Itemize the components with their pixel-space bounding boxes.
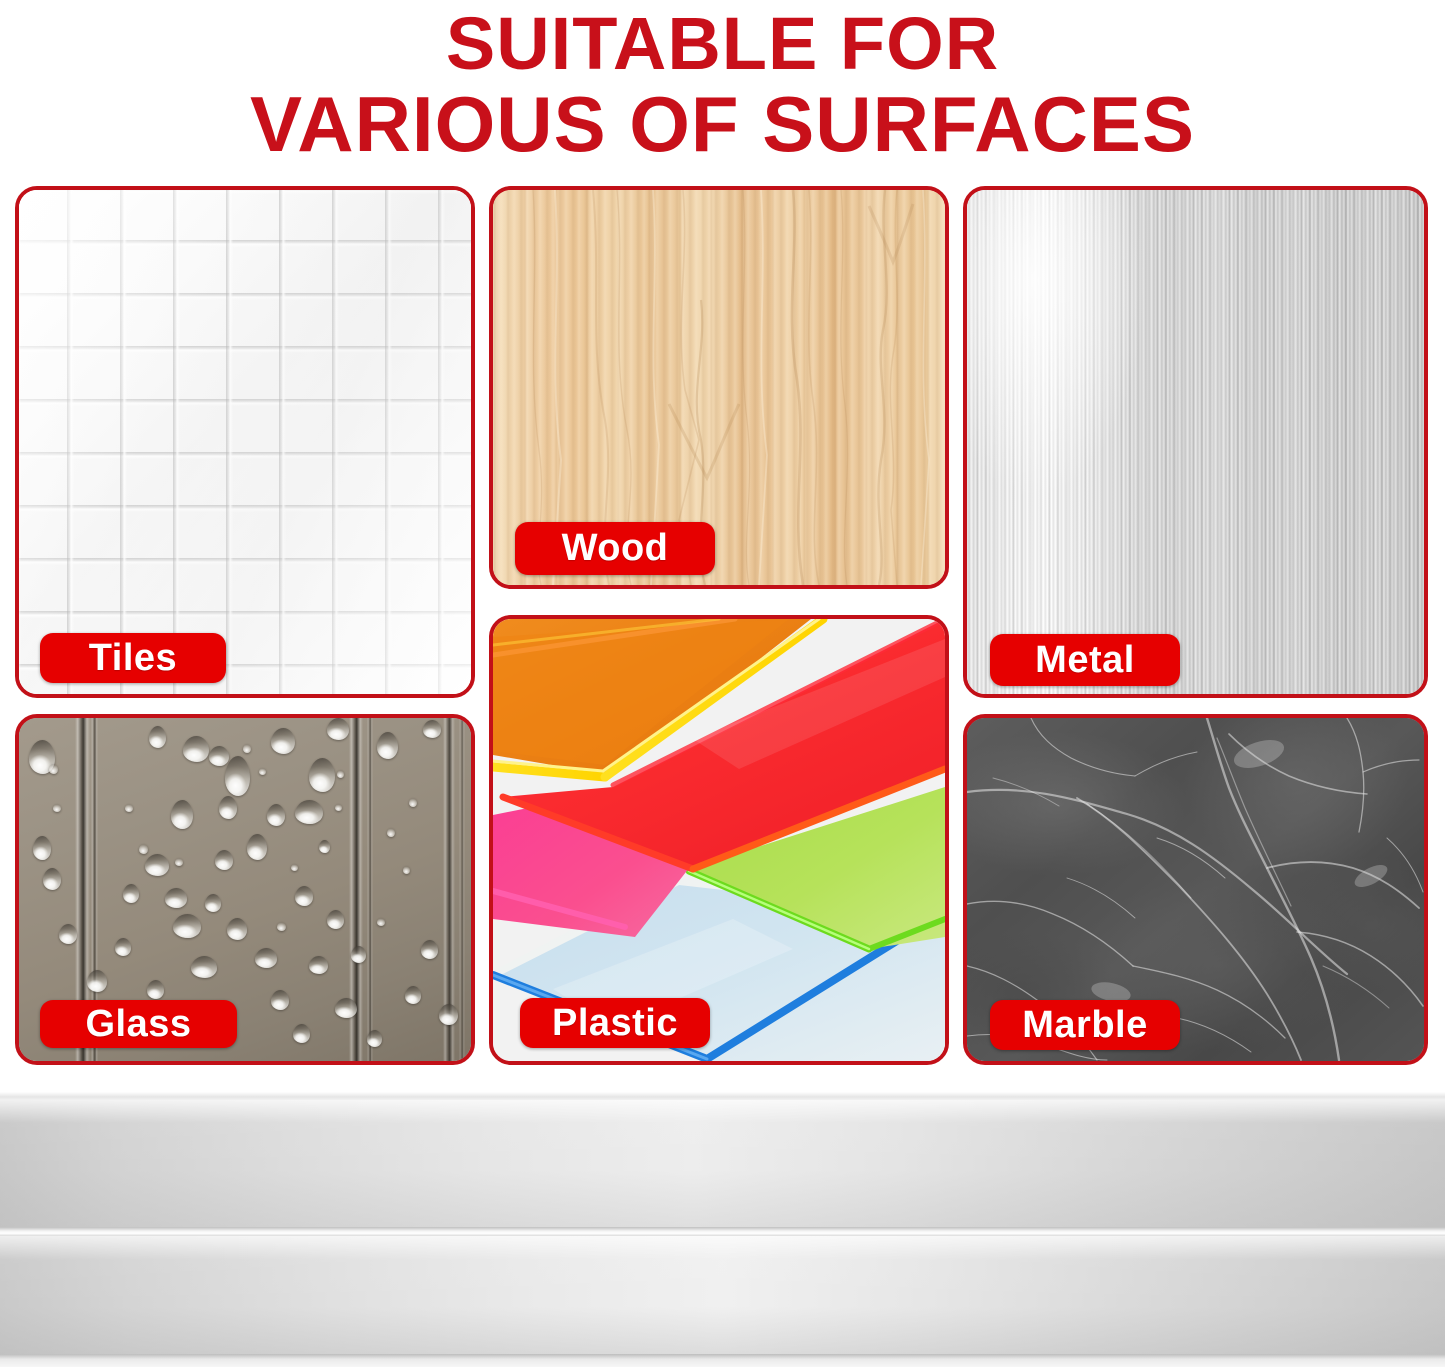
surface-panel-tiles [15, 186, 475, 698]
band-segment-lower [0, 1236, 1445, 1354]
page-title: SUITABLE FOR VARIOUS OF SURFACES [0, 0, 1445, 168]
metal-texture [967, 190, 1424, 694]
label-badge-glass: Glass [40, 1000, 237, 1048]
surface-panel-metal [963, 186, 1428, 698]
bottom-shelf-band [0, 1092, 1445, 1367]
band-bottom-edge [0, 1354, 1445, 1367]
page-title-line-1: SUITABLE FOR [0, 4, 1445, 84]
page-title-line-2: VARIOUS OF SURFACES [0, 84, 1445, 164]
label-badge-marble: Marble [990, 1000, 1180, 1050]
band-top-edge [0, 1092, 1445, 1100]
tiles-texture [19, 190, 471, 694]
label-badge-tiles: Tiles [40, 633, 226, 683]
band-divider-line [0, 1227, 1445, 1236]
label-badge-metal: Metal [990, 634, 1180, 686]
plastic-background [493, 619, 945, 1061]
label-badge-plastic: Plastic [520, 998, 710, 1048]
label-badge-wood: Wood [515, 522, 715, 575]
band-segment-upper [0, 1100, 1445, 1227]
